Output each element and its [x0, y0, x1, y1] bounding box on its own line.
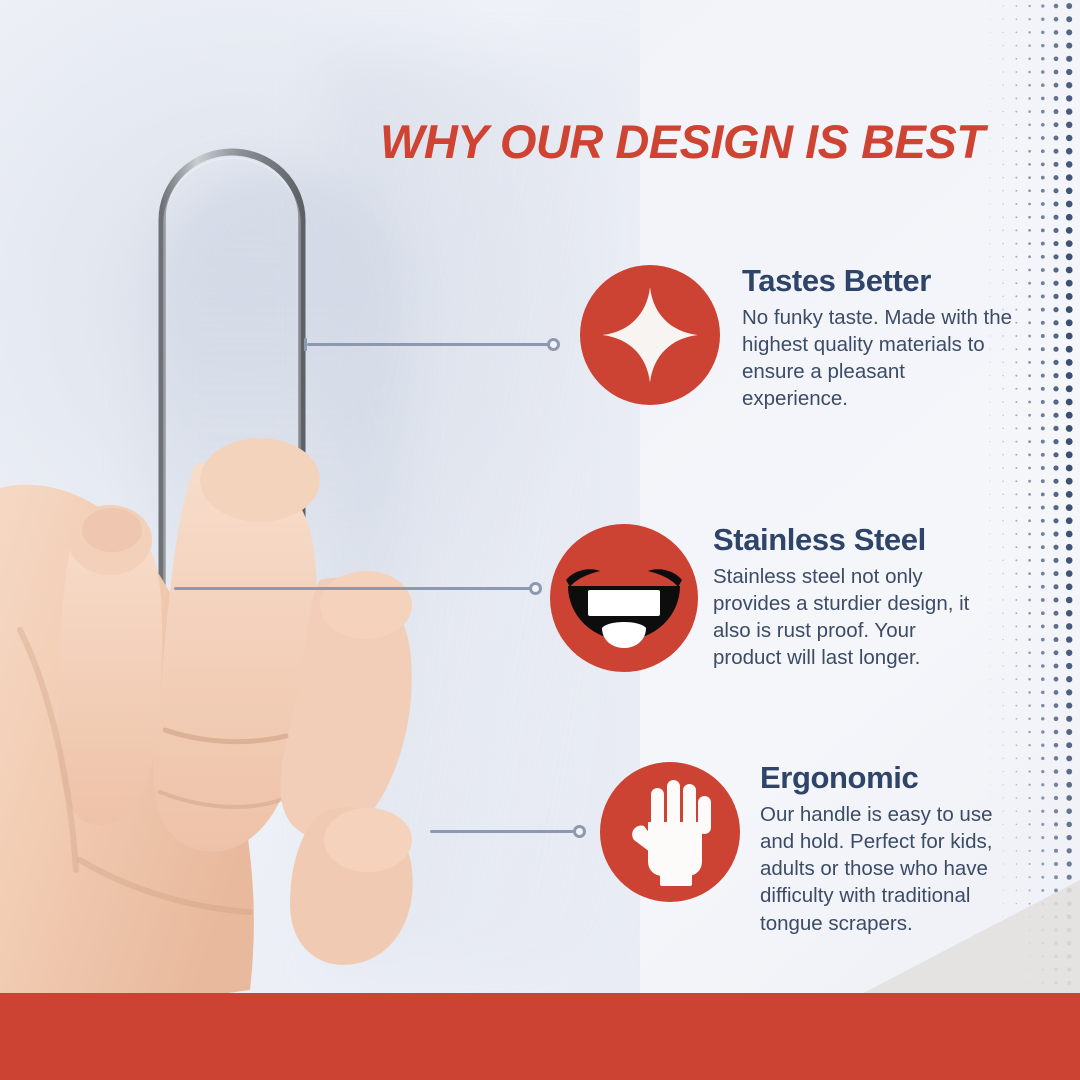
connector-line-2 — [174, 581, 542, 595]
connector-bar — [174, 587, 531, 590]
open-hand-icon — [618, 776, 722, 888]
feature-body: No funky taste. Made with the highest qu… — [742, 304, 1014, 413]
page-title: WHY OUR DESIGN IS BEST — [380, 118, 980, 165]
connector-endpoint-ring — [573, 825, 586, 838]
feature-block-stainless-steel: Stainless Steel Stainless steel not only… — [550, 524, 975, 672]
connector-bar — [430, 830, 575, 833]
connector-endpoint-ring — [529, 582, 542, 595]
feature-text: Stainless Steel Stainless steel not only… — [713, 524, 975, 672]
feature-title: Ergonomic — [760, 762, 1028, 795]
feature-body: Stainless steel not only provides a stur… — [713, 563, 975, 672]
feature-title: Tastes Better — [742, 265, 1014, 298]
connector-endpoint-ring — [547, 338, 560, 351]
connector-line-3 — [430, 824, 586, 838]
feature-text: Tastes Better No funky taste. Made with … — [742, 265, 1014, 413]
feature-body: Our handle is easy to use and hold. Perf… — [760, 801, 1028, 937]
bottom-accent-bar — [0, 993, 1080, 1080]
sparkle-icon — [598, 283, 702, 387]
smiling-mouth-icon — [550, 524, 698, 672]
sparkle-icon-badge — [580, 265, 720, 405]
feature-block-ergonomic: Ergonomic Our handle is easy to use and … — [600, 762, 1028, 937]
feature-text: Ergonomic Our handle is easy to use and … — [760, 762, 1028, 937]
connector-bar — [307, 343, 549, 346]
open-hand-icon-badge — [600, 762, 740, 902]
feature-block-tastes-better: Tastes Better No funky taste. Made with … — [580, 265, 1014, 413]
infographic-canvas: WHY OUR DESIGN IS BEST Tastes Better No … — [0, 0, 1080, 1080]
connector-line-1 — [304, 337, 560, 351]
feature-title: Stainless Steel — [713, 524, 975, 557]
smiling-mouth-icon-badge — [550, 524, 698, 672]
hand-holding-product — [0, 430, 520, 1000]
